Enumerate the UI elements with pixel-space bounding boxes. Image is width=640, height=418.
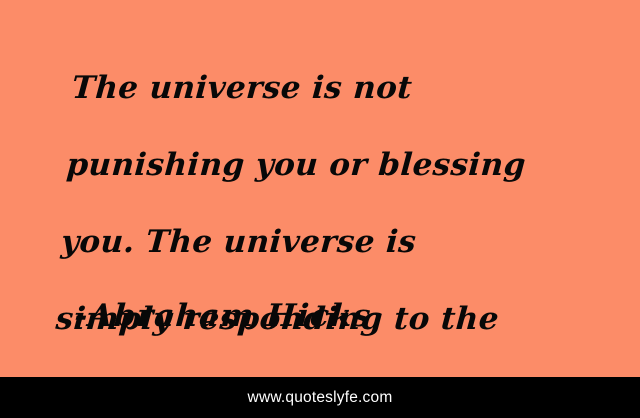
quote-text: The universe is not punishing you or ble… — [41, 30, 596, 418]
footer-website-url: www.quoteslyfe.com — [248, 389, 393, 407]
quote-line: punishing you or blessing — [65, 146, 588, 185]
quote-line: The universe is not — [71, 69, 594, 108]
quote-line: you. The universe is — [60, 223, 583, 262]
quote-image-card: The universe is not punishing you or ble… — [0, 0, 640, 418]
quote-author-attribution: -Abraham Hicks — [73, 296, 373, 336]
footer-bar: www.quoteslyfe.com — [0, 377, 640, 418]
